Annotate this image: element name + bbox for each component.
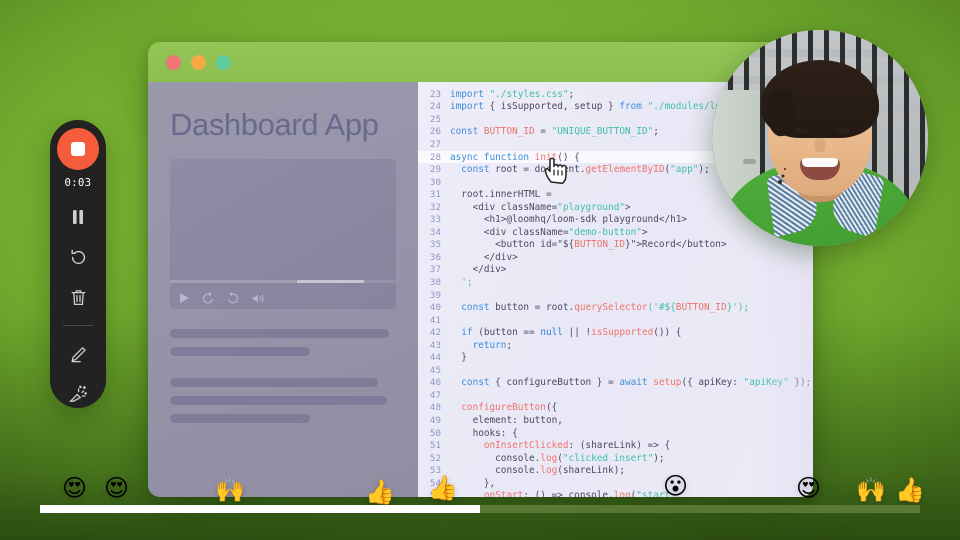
code-line[interactable]: 47 [418,389,813,402]
code-line-text: onStart: () => console.log("start [450,490,813,497]
video-progress-bar[interactable] [170,280,396,283]
traffic-light-minimize[interactable] [191,55,206,70]
recording-timer: 0:03 [65,177,92,189]
code-line-text: configureButton({ [450,402,813,413]
app-preview-pane: Dashboard App [148,82,418,497]
restart-icon[interactable] [63,245,93,269]
code-line[interactable]: 51 onInsertClicked: (shareLink) => { [418,439,813,452]
line-number: 45 [418,365,450,376]
code-line-text: }, [450,478,813,489]
rewind-10-icon[interactable] [202,292,214,304]
line-number: 32 [418,202,450,213]
skeleton-line [170,414,310,423]
line-number: 29 [418,164,450,175]
code-line[interactable]: 50 hooks: { [418,427,813,440]
code-line-text: console.log(shareLink); [450,465,813,476]
reaction-emoji: 👍 [428,476,458,500]
line-number: 47 [418,390,450,401]
code-line[interactable]: 46 const { configureButton } = await set… [418,377,813,390]
video-player[interactable] [170,159,396,309]
lapel-mic-icon [778,180,782,184]
line-number: 49 [418,415,450,426]
line-number: 35 [418,239,450,250]
forward-10-icon[interactable] [227,292,239,304]
pause-icon[interactable] [63,205,93,229]
code-line[interactable]: 54 }, [418,477,813,490]
code-line[interactable]: 37 </div> [418,264,813,277]
line-number: 44 [418,352,450,363]
line-number: 40 [418,302,450,313]
code-line-text: '; [450,277,813,288]
code-line[interactable]: 43 return; [418,339,813,352]
code-line[interactable]: 55 onStart: () => console.log("start [418,490,813,498]
volume-icon[interactable] [252,293,264,304]
traffic-light-maximize[interactable] [216,55,231,70]
line-number: 38 [418,277,450,288]
code-line[interactable]: 38 '; [418,276,813,289]
toolbar-divider [63,325,93,326]
code-line-text: </div> [450,264,813,275]
reaction-emoji: 😍 [796,476,821,500]
code-line[interactable]: 53 console.log(shareLink); [418,464,813,477]
code-line-text: hooks: { [450,428,813,439]
skeleton-block-1 [170,329,396,356]
recording-toolbar: 0:03 [50,120,106,408]
line-number: 52 [418,453,450,464]
skeleton-line [170,347,310,356]
code-line-text: const { configureButton } = await setup(… [450,377,813,388]
code-line[interactable]: 49 element: button, [418,414,813,427]
line-number: 28 [418,152,450,163]
video-controls [180,292,264,304]
skeleton-line [170,329,389,338]
code-line[interactable]: 39 [418,289,813,302]
code-line[interactable]: 40 const button = root.querySelector('#$… [418,301,813,314]
code-line[interactable]: 41 [418,314,813,327]
code-line-text: </div> [450,252,813,263]
presenter-nose [815,138,826,152]
line-number: 50 [418,428,450,439]
line-number: 23 [418,89,450,100]
line-number: 31 [418,189,450,200]
code-line[interactable]: 45 [418,364,813,377]
presenter-eye-left [796,128,809,133]
reaction-emoji: 👍 [365,480,395,504]
line-number: 39 [418,290,450,301]
code-line-text: const button = root.querySelector('#${BU… [450,302,813,313]
page-title: Dashboard App [170,108,396,141]
reaction-emoji: 😮 [663,474,688,498]
line-number: 30 [418,177,450,188]
stop-recording-button[interactable] [57,128,99,170]
code-line-text: console.log("clicked insert"); [450,453,813,464]
line-number: 43 [418,340,450,351]
reaction-emoji: 👍 [895,478,925,502]
timeline-progress-fill [40,505,480,513]
code-line-text: return; [450,340,813,351]
reaction-emoji: 🙌 [215,478,245,502]
line-number: 24 [418,101,450,112]
line-number: 37 [418,264,450,275]
webcam-bubble[interactable] [712,30,928,246]
line-number: 48 [418,402,450,413]
line-number: 34 [418,227,450,238]
code-line-text: element: button, [450,415,813,426]
skeleton-line [170,396,387,405]
code-line-text: } [450,352,813,363]
presenter-eye-right [837,128,850,133]
reaction-emoji: 😍 [104,476,129,500]
effects-wand-icon[interactable] [63,382,93,406]
recording-timeline[interactable] [40,505,920,513]
code-line-text: onInsertClicked: (shareLink) => { [450,440,813,451]
traffic-light-close[interactable] [166,55,181,70]
line-number: 33 [418,214,450,225]
code-line[interactable]: 48 configureButton({ [418,402,813,415]
code-line[interactable]: 52 console.log("clicked insert"); [418,452,813,465]
code-line[interactable]: 44 } [418,351,813,364]
pencil-icon[interactable] [63,342,93,366]
code-line[interactable]: 36 </div> [418,251,813,264]
line-number: 36 [418,252,450,263]
trash-icon[interactable] [63,285,93,309]
reaction-emoji: 😍 [62,476,87,500]
code-line[interactable]: 42 if (button == null || !isSupported())… [418,326,813,339]
line-number: 42 [418,327,450,338]
line-number: 41 [418,315,450,326]
skeleton-block-2 [170,378,396,423]
line-number: 51 [418,440,450,451]
line-number: 27 [418,139,450,150]
line-number: 26 [418,126,450,137]
reaction-emoji: 🙌 [856,478,886,502]
line-number: 46 [418,377,450,388]
line-number: 25 [418,114,450,125]
play-icon[interactable] [180,293,189,303]
skeleton-line [170,378,378,387]
code-line-text: if (button == null || !isSupported()) { [450,327,813,338]
